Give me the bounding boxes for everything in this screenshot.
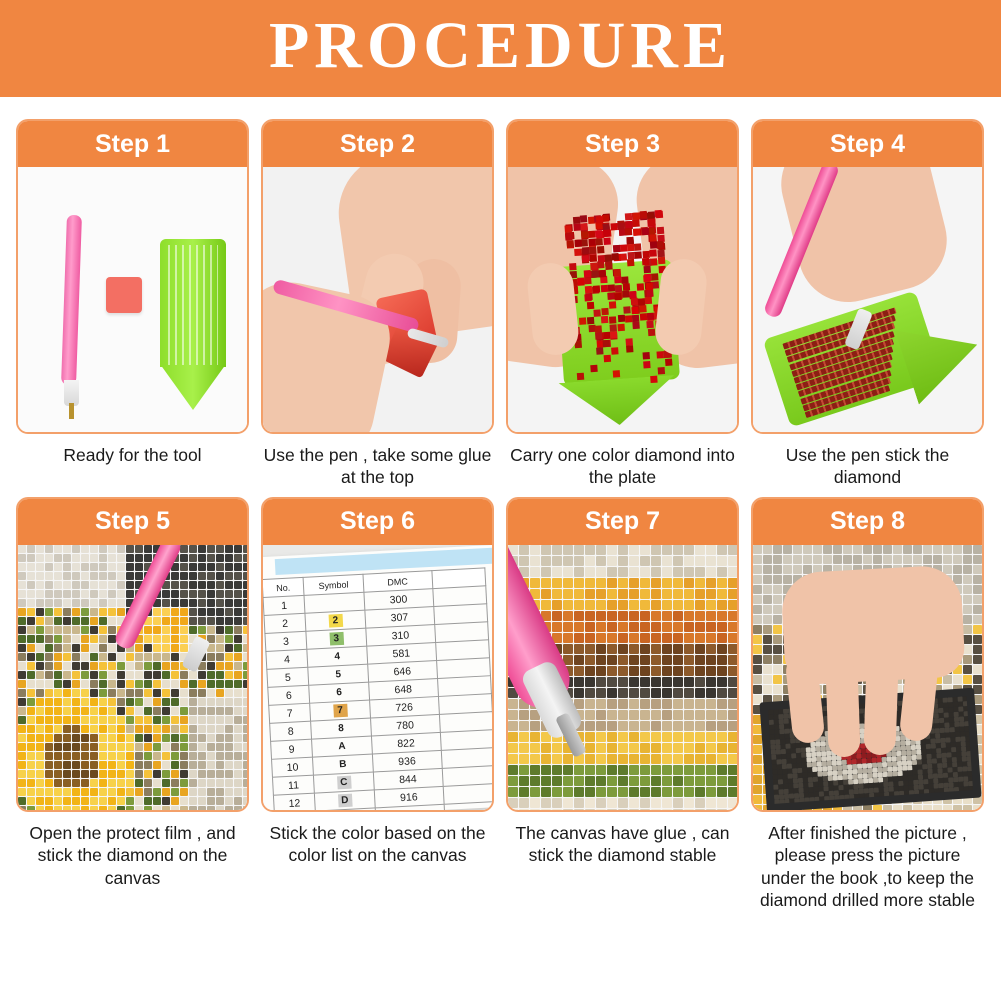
mosaic-bead <box>963 585 972 594</box>
mosaic-bead <box>63 689 71 697</box>
mosaic-bead <box>117 572 125 580</box>
diamond-bead <box>626 345 633 352</box>
mosaic-bead <box>27 617 35 625</box>
mosaic-bead <box>753 755 762 764</box>
mosaic-bead <box>216 752 224 760</box>
diamond-bead <box>593 285 600 292</box>
mosaic-bead <box>783 565 792 574</box>
mosaic-bead <box>607 710 617 720</box>
mosaic-bead <box>144 689 152 697</box>
mosaic-bead <box>171 599 179 607</box>
mosaic-bead <box>618 589 628 599</box>
mosaic-bead <box>563 644 573 654</box>
mosaic-bead <box>117 662 125 670</box>
mosaic-bead <box>966 751 971 756</box>
mosaic-bead <box>943 675 952 684</box>
mosaic-bead <box>108 797 116 805</box>
step-image-8 <box>753 545 982 812</box>
mosaic-bead <box>207 707 215 715</box>
mosaic-bead <box>126 671 134 679</box>
mosaic-bead <box>216 572 224 580</box>
mosaic-bead <box>27 626 35 634</box>
mosaic-bead <box>596 666 606 676</box>
mosaic-bead <box>662 710 672 720</box>
mosaic-bead <box>234 707 242 715</box>
diamond-bead <box>600 276 607 283</box>
mosaic-bead <box>180 716 188 724</box>
mosaic-bead <box>783 555 792 564</box>
mosaic-bead <box>640 578 650 588</box>
mosaic-bead <box>144 671 152 679</box>
mosaic-bead <box>973 595 982 604</box>
mosaic-bead <box>541 809 551 812</box>
mosaic-bead <box>171 761 179 769</box>
mosaic-bead <box>596 633 606 643</box>
mosaic-bead <box>618 578 628 588</box>
mosaic-bead <box>225 716 233 724</box>
mosaic-bead <box>574 567 584 577</box>
mosaic-bead <box>563 611 573 621</box>
mosaic-bead <box>552 765 562 775</box>
mosaic-bead <box>596 545 606 555</box>
mosaic-bead <box>651 545 661 555</box>
mosaic-bead <box>706 589 716 599</box>
mosaic-bead <box>234 554 242 562</box>
diamond-bead <box>608 284 615 291</box>
mosaic-bead <box>153 734 161 742</box>
mosaic-bead <box>684 655 694 665</box>
mosaic-bead <box>574 688 584 698</box>
diamond-bead <box>601 316 608 323</box>
mosaic-bead <box>706 677 716 687</box>
mosaic-bead <box>574 776 584 786</box>
mosaic-bead <box>162 635 170 643</box>
mosaic-bead <box>117 563 125 571</box>
mosaic-bead <box>243 671 247 679</box>
header-banner: PROCEDURE <box>0 0 1001 97</box>
mosaic-bead <box>695 765 705 775</box>
mosaic-bead <box>695 600 705 610</box>
mosaic-bead <box>629 578 639 588</box>
mosaic-bead <box>54 545 62 553</box>
mosaic-bead <box>753 735 762 744</box>
mosaic-bead <box>63 716 71 724</box>
mosaic-bead <box>36 554 44 562</box>
mosaic-bead <box>695 798 705 808</box>
mosaic-bead <box>793 555 802 564</box>
mosaic-bead <box>234 590 242 598</box>
mosaic-bead <box>225 563 233 571</box>
mosaic-bead <box>180 599 188 607</box>
mosaic-bead <box>662 787 672 797</box>
mosaic-bead <box>843 545 852 554</box>
diamond-bead <box>603 340 610 347</box>
mosaic-bead <box>117 689 125 697</box>
mosaic-bead <box>126 725 134 733</box>
mosaic-bead <box>508 754 518 764</box>
mosaic-bead <box>706 798 716 808</box>
mosaic-bead <box>36 680 44 688</box>
diamond-bead <box>633 228 640 235</box>
diamond-bead <box>629 291 636 298</box>
mosaic-bead <box>695 666 705 676</box>
mosaic-bead <box>99 698 107 706</box>
mosaic-bead <box>973 555 982 564</box>
mosaic-bead <box>45 761 53 769</box>
mosaic-bead <box>153 644 161 652</box>
mosaic-bead <box>753 595 762 604</box>
mosaic-bead <box>618 688 628 698</box>
mosaic-bead <box>81 716 89 724</box>
mosaic-bead <box>596 578 606 588</box>
mosaic-bead <box>717 688 727 698</box>
mosaic-bead <box>973 575 982 584</box>
mosaic-bead <box>63 626 71 634</box>
mosaic-bead <box>63 680 71 688</box>
mosaic-bead <box>153 671 161 679</box>
mosaic-bead <box>27 770 35 778</box>
mosaic-bead <box>243 617 247 625</box>
mosaic-bead <box>753 785 762 794</box>
mosaic-bead <box>684 633 694 643</box>
mosaic-bead <box>180 680 188 688</box>
mosaic-bead <box>198 545 206 553</box>
mosaic-bead <box>963 635 972 644</box>
mosaic-bead <box>81 653 89 661</box>
mosaic-bead <box>90 734 98 742</box>
diamond-bead <box>582 247 589 254</box>
diamond-bead <box>627 259 634 266</box>
mosaic-bead <box>207 797 215 805</box>
mosaic-bead <box>629 589 639 599</box>
mosaic-bead <box>563 556 573 566</box>
mosaic-bead <box>90 797 98 805</box>
mosaic-bead <box>243 779 247 787</box>
mosaic-bead <box>717 655 727 665</box>
step-header-4: Step 4 <box>753 121 982 167</box>
mosaic-bead <box>63 797 71 805</box>
mosaic-bead <box>207 599 215 607</box>
mosaic-bead <box>27 698 35 706</box>
diamond-bead <box>631 307 638 314</box>
mosaic-bead <box>243 689 247 697</box>
mosaic-bead <box>126 752 134 760</box>
mosaic-bead <box>81 770 89 778</box>
step-header-5: Step 5 <box>18 499 247 545</box>
mosaic-bead <box>81 599 89 607</box>
mosaic-bead <box>585 600 595 610</box>
cell-no: 5 <box>267 667 309 687</box>
mosaic-bead <box>144 653 152 661</box>
mosaic-bead <box>180 545 188 553</box>
mosaic-bead <box>18 635 26 643</box>
mosaic-bead <box>596 798 606 808</box>
mosaic-bead <box>36 563 44 571</box>
mosaic-bead <box>54 761 62 769</box>
mosaic-bead <box>99 617 107 625</box>
mosaic-bead <box>171 617 179 625</box>
mosaic-bead <box>153 716 161 724</box>
diamond-bead <box>604 254 611 261</box>
mosaic-bead <box>108 725 116 733</box>
mosaic-bead <box>618 754 628 764</box>
mosaic-bead <box>108 608 116 616</box>
mosaic-bead <box>728 765 737 775</box>
mosaic-bead <box>117 554 125 562</box>
mosaic-bead <box>234 635 242 643</box>
mosaic-bead <box>171 680 179 688</box>
mosaic-bead <box>706 578 716 588</box>
diamond-bead <box>656 241 663 248</box>
mosaic-bead <box>63 581 71 589</box>
mosaic-bead <box>618 556 628 566</box>
mosaic-bead <box>717 765 727 775</box>
mosaic-bead <box>171 662 179 670</box>
mosaic-bead <box>662 776 672 786</box>
mosaic-bead <box>574 787 584 797</box>
mosaic-bead <box>117 545 125 553</box>
mosaic-bead <box>189 779 197 787</box>
mosaic-bead <box>706 721 716 731</box>
finger-2 <box>825 660 860 757</box>
mosaic-bead <box>753 575 762 584</box>
mosaic-bead <box>72 806 80 812</box>
mosaic-bead <box>216 617 224 625</box>
mosaic-bead <box>81 680 89 688</box>
mosaic-bead <box>684 743 694 753</box>
mosaic-bead <box>607 776 617 786</box>
mosaic-bead <box>36 617 44 625</box>
mosaic-bead <box>618 798 628 808</box>
mosaic-bead <box>90 617 98 625</box>
mosaic-bead <box>162 689 170 697</box>
mosaic-bead <box>585 765 595 775</box>
mosaic-bead <box>36 608 44 616</box>
mosaic-bead <box>108 644 116 652</box>
mosaic-bead <box>54 653 62 661</box>
mosaic-bead <box>695 633 705 643</box>
mosaic-bead <box>45 653 53 661</box>
mosaic-bead <box>198 563 206 571</box>
mosaic-bead <box>171 752 179 760</box>
mosaic-bead <box>81 590 89 598</box>
mosaic-bead <box>966 741 971 746</box>
mosaic-bead <box>753 745 762 754</box>
mosaic-bead <box>234 608 242 616</box>
mosaic-bead <box>36 743 44 751</box>
mosaic-bead <box>541 765 551 775</box>
mosaic-bead <box>234 653 242 661</box>
mosaic-bead <box>180 698 188 706</box>
mosaic-bead <box>519 809 529 812</box>
mosaic-bead <box>640 754 650 764</box>
mosaic-bead <box>54 626 62 634</box>
mosaic-bead <box>135 770 143 778</box>
diamond-bead <box>566 240 573 247</box>
mosaic-bead <box>108 671 116 679</box>
mosaic-bead <box>135 806 143 812</box>
mosaic-bead <box>63 608 71 616</box>
mosaic-bead <box>189 554 197 562</box>
mosaic-bead <box>225 770 233 778</box>
mosaic-bead <box>706 787 716 797</box>
mosaic-bead <box>243 581 247 589</box>
mosaic-bead <box>99 725 107 733</box>
mosaic-bead <box>563 589 573 599</box>
mosaic-bead <box>673 787 683 797</box>
mosaic-bead <box>135 653 143 661</box>
mosaic-bead <box>833 555 842 564</box>
mosaic-bead <box>189 725 197 733</box>
mosaic-bead <box>651 809 661 812</box>
mosaic-bead <box>563 809 573 812</box>
diamond-bead <box>569 263 576 270</box>
diamond-bead <box>620 245 627 252</box>
mosaic-bead <box>126 653 134 661</box>
cell-no: 6 <box>268 685 310 705</box>
mosaic-bead <box>63 572 71 580</box>
mosaic-bead <box>684 776 694 786</box>
mosaic-bead <box>717 798 727 808</box>
mosaic-bead <box>27 671 35 679</box>
mosaic-bead <box>662 578 672 588</box>
mosaic-bead <box>63 644 71 652</box>
mosaic-bead <box>753 685 762 694</box>
step-image-3 <box>508 167 737 434</box>
diamond-bead <box>609 301 616 308</box>
mosaic-bead <box>126 662 134 670</box>
mosaic-bead <box>90 743 98 751</box>
mosaic-bead <box>651 611 661 621</box>
mosaic-bead <box>207 581 215 589</box>
mosaic-bead <box>144 743 152 751</box>
step-card-5: Step 5 <box>16 497 249 812</box>
mosaic-bead <box>662 633 672 643</box>
mosaic-bead <box>596 567 606 577</box>
cell-no: 2 <box>264 613 306 633</box>
mosaic-bead <box>508 721 518 731</box>
mosaic-bead <box>695 644 705 654</box>
mosaic-bead <box>171 608 179 616</box>
mosaic-bead <box>243 626 247 634</box>
cell-no: 3 <box>265 631 307 651</box>
mosaic-bead <box>234 734 242 742</box>
mosaic-bead <box>552 743 562 753</box>
mosaic-bead <box>640 589 650 599</box>
mosaic-bead <box>706 765 716 775</box>
mosaic-bead <box>162 698 170 706</box>
mosaic-bead <box>673 644 683 654</box>
mosaic-bead <box>108 599 116 607</box>
mosaic-bead <box>753 765 762 774</box>
mosaic-bead <box>234 716 242 724</box>
mosaic-bead <box>207 563 215 571</box>
mosaic-bead <box>189 707 197 715</box>
mosaic-bead <box>126 554 134 562</box>
diamond-bead <box>640 211 647 218</box>
mosaic-bead <box>640 644 650 654</box>
mosaic-bead <box>27 779 35 787</box>
mosaic-bead <box>108 680 116 688</box>
mosaic-bead <box>596 655 606 665</box>
mosaic-bead <box>963 805 972 812</box>
mosaic-bead <box>207 761 215 769</box>
mosaic-bead <box>574 545 584 555</box>
mosaic-bead <box>72 788 80 796</box>
mosaic-bead <box>640 765 650 775</box>
mosaic-bead <box>63 563 71 571</box>
mosaic-bead <box>99 635 107 643</box>
mosaic-bead <box>108 563 116 571</box>
mosaic-bead <box>963 565 972 574</box>
mosaic-bead <box>965 736 970 741</box>
step-cell-1: Step 1 Ready for the tool <box>16 119 249 489</box>
mosaic-bead <box>225 779 233 787</box>
mosaic-bead <box>596 721 606 731</box>
mosaic-bead <box>81 644 89 652</box>
mosaic-bead <box>135 689 143 697</box>
mosaic-bead <box>618 567 628 577</box>
mosaic-bead <box>180 707 188 715</box>
mosaic-bead <box>36 653 44 661</box>
mosaic-bead <box>243 716 247 724</box>
mosaic-bead <box>763 625 772 634</box>
mosaic-bead <box>243 770 247 778</box>
mosaic-bead <box>651 633 661 643</box>
mosaic-bead <box>99 563 107 571</box>
step-caption-3: Carry one color diamond into the plate <box>506 444 739 489</box>
mosaic-bead <box>943 545 952 554</box>
mosaic-bead <box>753 645 762 654</box>
mosaic-bead <box>63 554 71 562</box>
diamond-bead <box>626 338 633 345</box>
mosaic-bead <box>45 581 53 589</box>
mosaic-bead <box>180 635 188 643</box>
mosaic-bead <box>225 707 233 715</box>
mosaic-bead <box>162 743 170 751</box>
mosaic-bead <box>81 581 89 589</box>
mosaic-bead <box>662 688 672 698</box>
mosaic-bead <box>27 608 35 616</box>
tray-grooves <box>168 245 218 365</box>
mosaic-bead <box>153 608 161 616</box>
mosaic-bead <box>607 589 617 599</box>
diamond-bead <box>642 352 649 359</box>
mosaic-bead <box>662 644 672 654</box>
mosaic-bead <box>783 575 792 584</box>
mosaic-bead <box>126 572 134 580</box>
mosaic-bead <box>234 617 242 625</box>
mosaic-bead <box>207 734 215 742</box>
mosaic-bead <box>803 555 812 564</box>
mosaic-bead <box>673 754 683 764</box>
mosaic-bead <box>530 776 540 786</box>
mosaic-bead <box>162 734 170 742</box>
mosaic-bead <box>180 581 188 589</box>
mosaic-bead <box>225 572 233 580</box>
mosaic-bead <box>530 545 540 555</box>
mosaic-bead <box>171 689 179 697</box>
step-label-5: Step 5 <box>95 507 170 536</box>
mosaic-bead <box>72 554 80 562</box>
mosaic-bead <box>673 666 683 676</box>
mosaic-bead <box>234 581 242 589</box>
mosaic-bead <box>126 563 134 571</box>
mosaic-bead <box>81 545 89 553</box>
mosaic-bead <box>943 805 952 812</box>
mosaic-bead <box>629 743 639 753</box>
mosaic-bead <box>144 761 152 769</box>
